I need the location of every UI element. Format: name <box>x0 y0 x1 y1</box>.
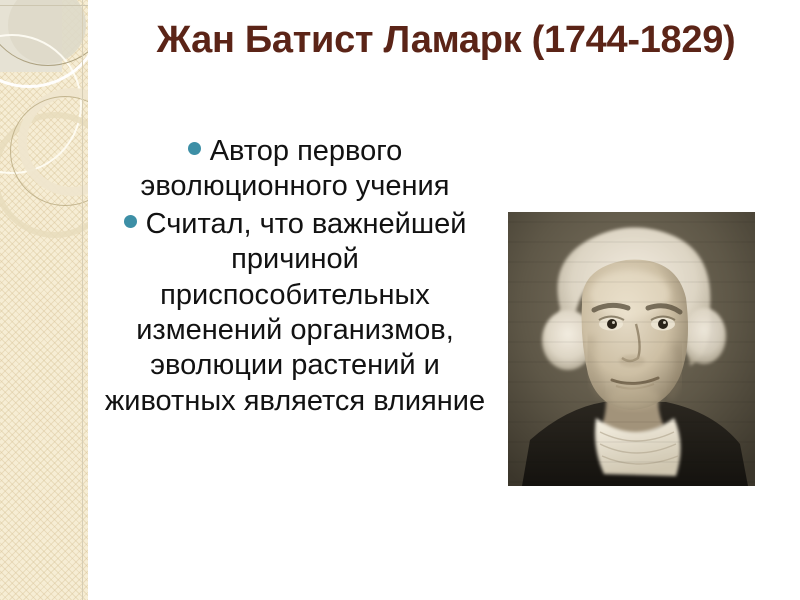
decorative-sidebar <box>0 0 88 600</box>
portrait-illustration <box>508 212 755 486</box>
portrait-image <box>508 212 755 486</box>
sidebar-right-rule <box>82 0 83 600</box>
list-item-text: Автор первого эволюционного учения <box>141 135 450 202</box>
bullet-marker-icon <box>188 142 201 155</box>
list-item-text: Считал, что важнейшей причиной приспособ… <box>105 208 485 417</box>
slide-title: Жан Батист Ламарк (1744-1829) <box>96 18 796 63</box>
decor-ring-top-outline-icon <box>0 0 88 66</box>
bullet-marker-icon <box>124 215 137 228</box>
list-item: Считал, что важнейшей причиной приспособ… <box>100 207 490 419</box>
list-item: Автор первого эволюционного учения <box>100 134 490 205</box>
slide: Жан Батист Ламарк (1744-1829) Автор перв… <box>0 0 800 600</box>
bullet-list: Автор первого эволюционного учения Счита… <box>100 134 490 421</box>
sidebar-top-rule <box>0 5 88 6</box>
